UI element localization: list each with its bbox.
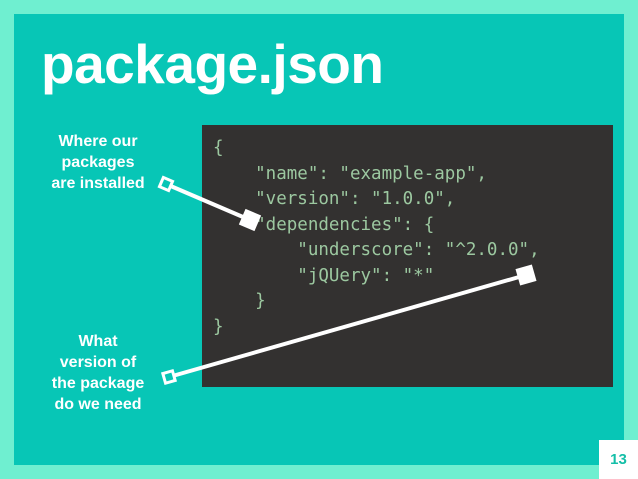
slide-root: package.json { "name": "example-app", "v… bbox=[0, 0, 638, 479]
page-number-text: 13 bbox=[610, 451, 627, 468]
page-number-badge: 13 bbox=[599, 440, 638, 479]
callout-label-dependencies: Where our packages are installed bbox=[8, 131, 188, 194]
code-block: { "name": "example-app", "version": "1.0… bbox=[202, 125, 613, 387]
callout-label-version: What version of the package do we need bbox=[8, 331, 188, 415]
code-content: { "name": "example-app", "version": "1.0… bbox=[213, 136, 540, 340]
page-title: package.json bbox=[41, 37, 383, 92]
